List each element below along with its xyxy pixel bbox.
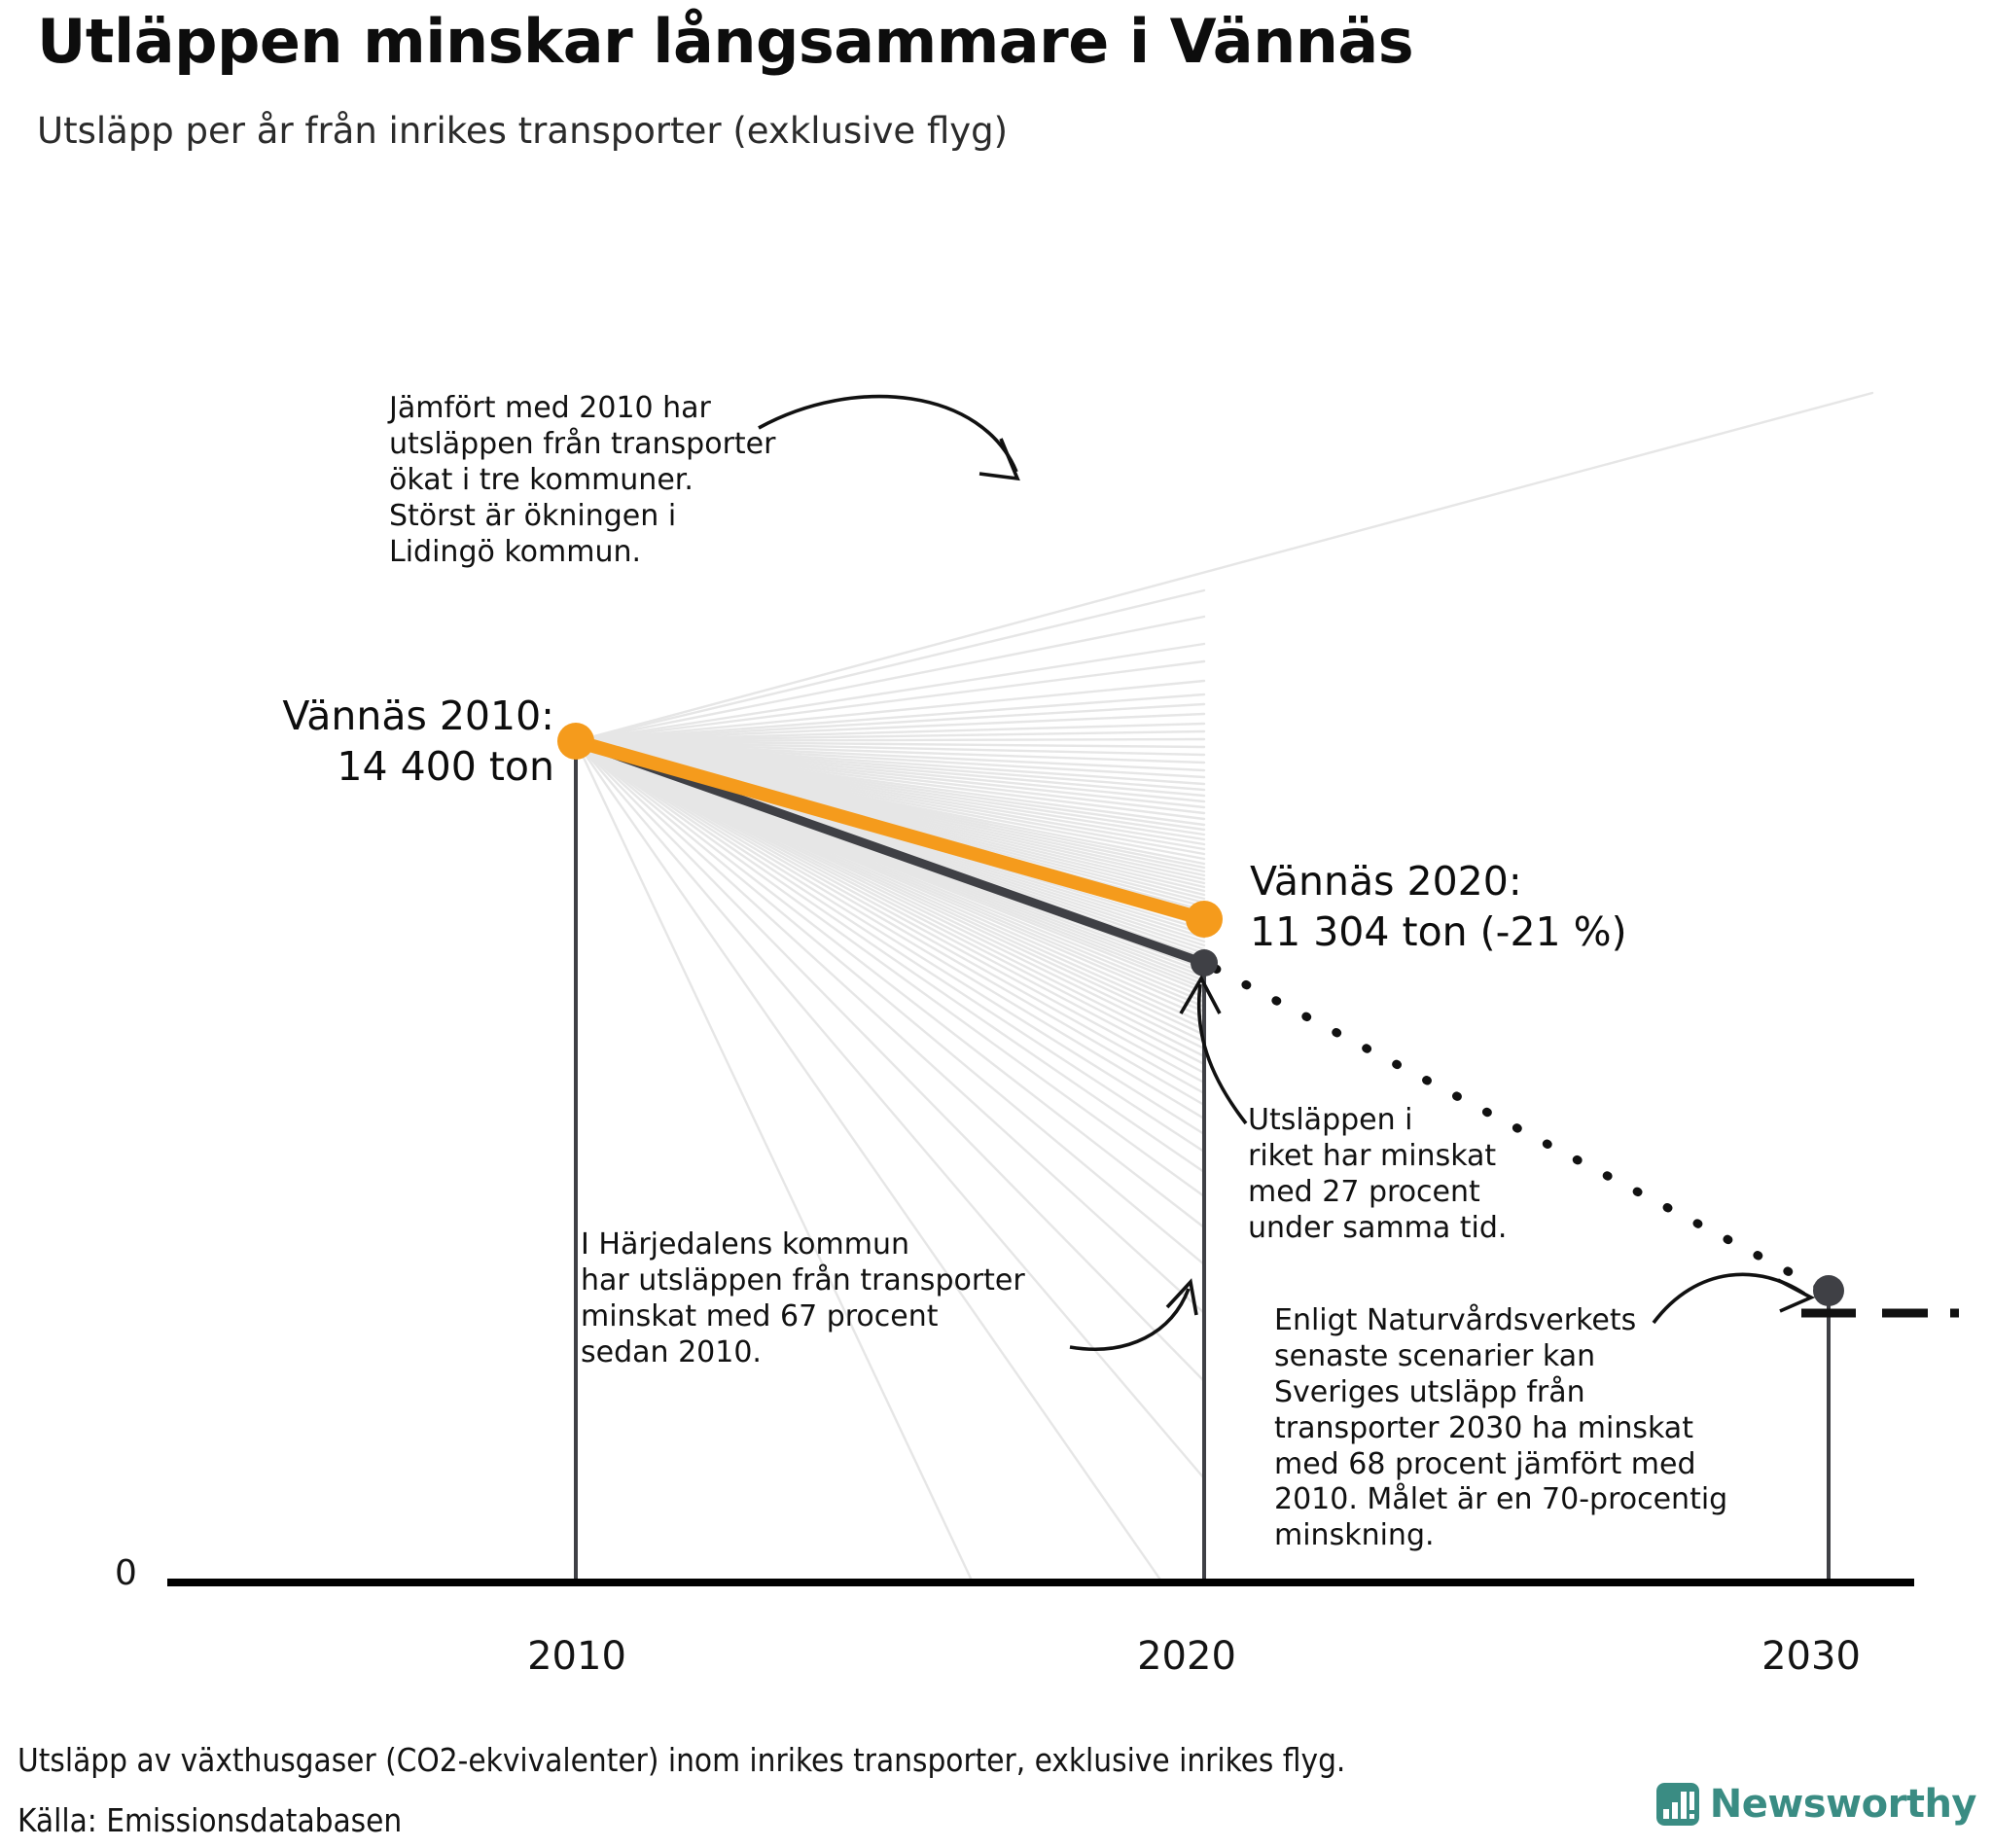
chart-subtitle: Utsläpp per år från inrikes transporter … <box>37 73 1885 152</box>
series-line-riket <box>576 741 1204 963</box>
y-axis-tick-zero: 0 <box>115 1553 137 1593</box>
data-point-vannas-2020 <box>1186 901 1223 938</box>
chart-footnote: Utsläpp av växthusgaser (CO2-ekvivalente… <box>18 1741 1345 1779</box>
chart-source: Källa: Emissionsdatabasen <box>18 1801 402 1839</box>
newsworthy-logo: Newsworthy <box>1656 1782 1976 1827</box>
annotation-riket: Utsläppen i riket har minskat med 27 pro… <box>1248 1103 1637 1247</box>
x-axis-tick-2030: 2030 <box>1714 1634 1908 1679</box>
brand-name: Newsworthy <box>1710 1782 1976 1827</box>
data-label-vannas-2020: Vännäs 2020: 11 304 ton (-21 %) <box>1250 856 1756 958</box>
bar-chart-icon <box>1656 1783 1699 1826</box>
series-line-vannas <box>576 741 1204 919</box>
chart-header: Utläppen minskar långsammare i Vännäs Ut… <box>37 10 1885 152</box>
annotation-harjedalen: I Härjedalens kommun har utsläppen från … <box>581 1227 1125 1371</box>
data-label-vannas-2010: Vännäs 2010: 14 400 ton <box>195 691 554 793</box>
page-title: Utläppen minskar långsammare i Vännäs <box>37 10 1885 73</box>
annotation-lidingo: Jämfört med 2010 har utsläppen från tran… <box>389 391 856 570</box>
data-point-riket-2020 <box>1191 949 1218 977</box>
x-axis-tick-2020: 2020 <box>1089 1634 1284 1679</box>
data-point-vannas-2010 <box>557 723 594 760</box>
data-point-scenario-2030 <box>1813 1275 1844 1306</box>
annotation-arrow-riket <box>1181 978 1246 1123</box>
x-axis-tick-2010: 2010 <box>480 1634 674 1679</box>
annotation-naturvardsverket: Enligt Naturvårdsverkets senaste scenari… <box>1274 1303 1799 1554</box>
